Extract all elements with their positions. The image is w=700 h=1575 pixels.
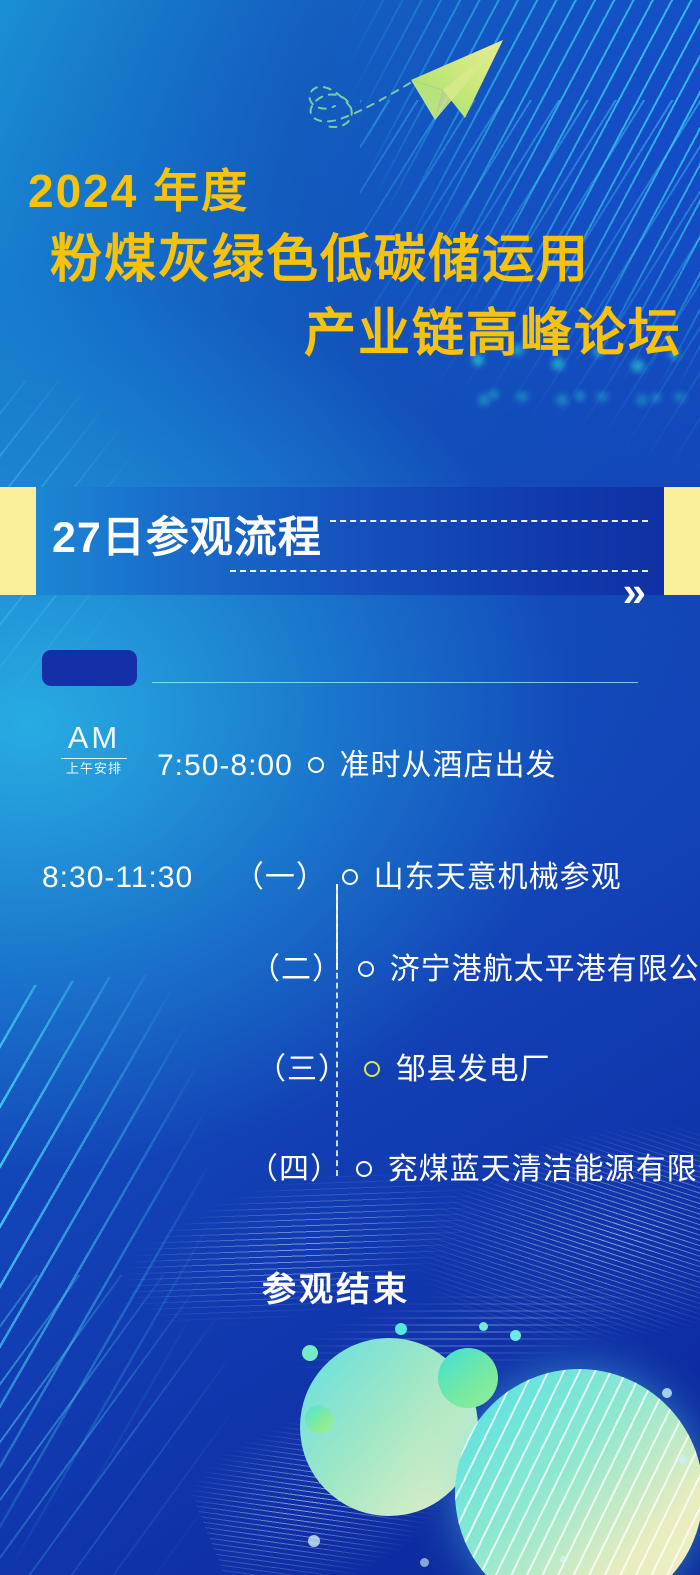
title-line-3: 产业链高峰论坛 — [0, 308, 700, 360]
bullet-marker-2 — [342, 869, 358, 885]
band-yellow-bar-right — [664, 487, 700, 595]
schedule-row-2: 8:30-11:30 （一） 山东天意机械参观 — [42, 852, 622, 896]
schedule-index-5: （四） — [248, 1153, 341, 1186]
decor-dot-7 — [678, 1455, 687, 1464]
title-line-2: 粉煤灰绿色低碳储运用 — [0, 234, 700, 286]
title-line-1: 2024 年度 — [0, 168, 700, 214]
period-code: AM — [48, 722, 140, 753]
badge-pill — [42, 650, 137, 686]
decor-dot-5 — [510, 1330, 521, 1341]
schedule-row-1: 7:50-8:00 准时从酒店出发 — [157, 740, 556, 784]
section-header-band: 27日参观流程 » — [0, 487, 700, 595]
schedule-row-5: （四） 兖煤蓝天清洁能源有限公司 — [248, 1144, 700, 1188]
schedule-activity-3: 济宁港航太平港有限公司 — [390, 953, 700, 986]
bullet-marker-5 — [356, 1161, 372, 1177]
decor-dot-6 — [662, 1388, 672, 1398]
end-label: 参观结束 — [262, 1262, 410, 1311]
schedule-time-2: 8:30-11:30 — [42, 861, 193, 894]
badge-row — [0, 648, 700, 698]
decor-dot-9 — [420, 1558, 429, 1567]
double-chevron-right-icon: » — [623, 571, 640, 613]
schedule-index-3: （二） — [250, 953, 343, 986]
decor-dot-2 — [305, 1405, 333, 1433]
decor-dot-3 — [395, 1323, 407, 1335]
schedule-activity-1: 准时从酒店出发 — [339, 749, 556, 782]
section-heading: 27日参观流程 — [52, 503, 322, 565]
decor-dot-4 — [479, 1322, 488, 1331]
decor-dot-10 — [560, 1556, 567, 1563]
band-yellow-bar-left — [0, 487, 36, 595]
timeline-connector-dashed — [336, 884, 338, 1176]
poster-title: 2024 年度 粉煤灰绿色低碳储运用 产业链高峰论坛 — [0, 168, 700, 360]
schedule-row-4: （三） 邹县发电厂 — [256, 1044, 551, 1088]
diagonal-lines-bottom-left-secondary-icon — [0, 1275, 330, 1575]
bullet-marker-4 — [364, 1061, 380, 1077]
decor-dot-8 — [308, 1535, 320, 1547]
decor-dot-1 — [302, 1345, 318, 1361]
schedule-index-2: （一） — [234, 861, 327, 894]
schedule-activity-4: 邹县发电厂 — [396, 1053, 551, 1086]
bullet-marker-1 — [308, 757, 324, 773]
band-dashed-rule-bottom — [230, 570, 648, 572]
glow-dots-upper-icon — [470, 392, 700, 422]
period-marker-am: AM 上午安排 — [48, 722, 140, 776]
schedule-activity-2: 山东天意机械参观 — [374, 861, 622, 894]
period-rule — [61, 758, 127, 759]
band-dashed-rule-top — [330, 520, 648, 522]
event-poster: 2024 年度 粉煤灰绿色低碳储运用 产业链高峰论坛 27日参观流程 » AM … — [0, 0, 700, 1575]
decor-circle-small-green — [438, 1348, 498, 1408]
bullet-marker-3 — [358, 961, 374, 977]
period-label: 上午安排 — [48, 762, 140, 776]
schedule-row-3: （二） 济宁港航太平港有限公司 — [250, 944, 700, 988]
paper-plane-illustration — [275, 28, 525, 148]
schedule-time-1: 7:50-8:00 — [157, 749, 293, 782]
schedule-activity-5: 兖煤蓝天清洁能源有限公司 — [388, 1153, 700, 1186]
decor-circle-large-stripes — [455, 1369, 700, 1575]
badge-divider-line — [152, 682, 638, 683]
paper-plane-icon — [275, 28, 525, 148]
